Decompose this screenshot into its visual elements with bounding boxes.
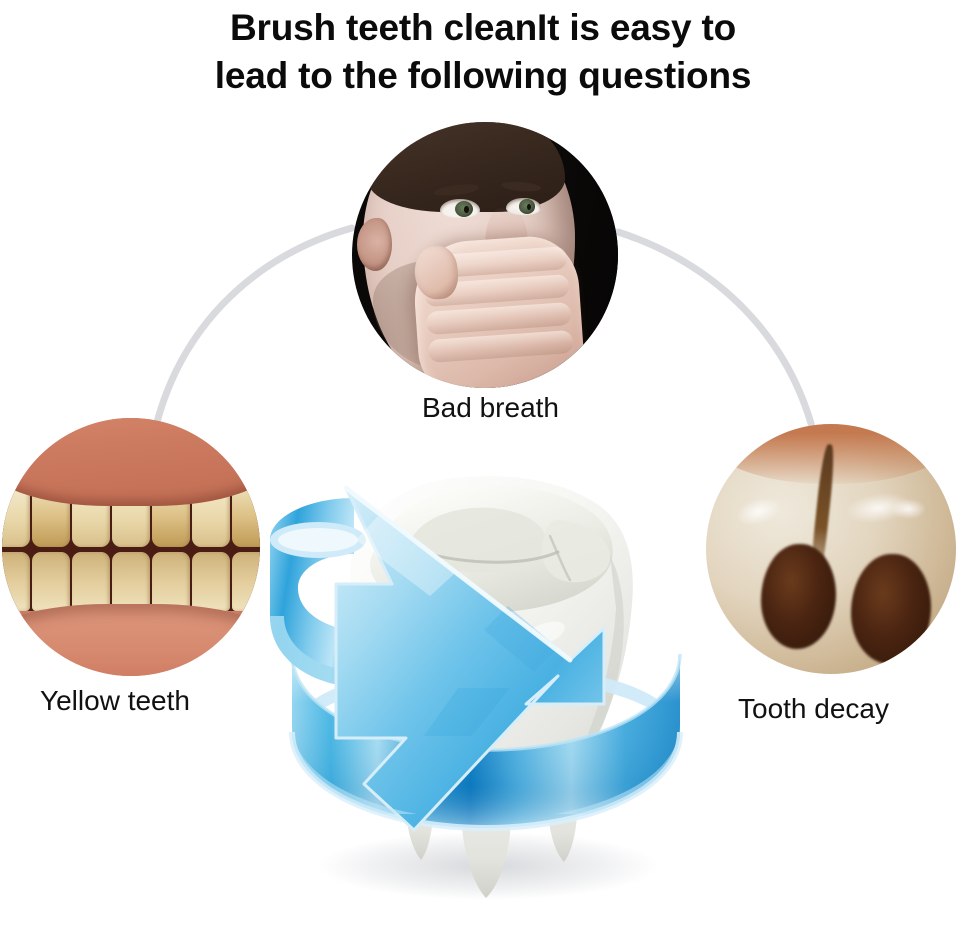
label-yellow-teeth: Yellow teeth [40,685,190,717]
yellow-teeth-lower-row [2,552,260,611]
bad-breath-finger [425,302,571,335]
yellow-tooth [232,488,260,547]
yellow-tooth [32,552,70,611]
bad-breath-finger [427,330,573,363]
bad-breath-hand [411,233,586,388]
yellow-tooth [232,552,260,611]
yellow-teeth-lower-lip [2,604,260,676]
poster-root: Brush teeth cleanIt is easy to lead to t… [0,0,966,947]
page-title-line-2: lead to the following questions [0,52,966,100]
bad-breath-thumb [412,245,458,300]
yellow-tooth [2,552,30,611]
bad-breath-iris-right [519,199,535,214]
bad-breath-pupil-left [464,206,469,213]
photo-circle-tooth-decay [706,424,956,674]
page-title: Brush teeth cleanIt is easy to lead to t… [0,4,966,100]
bad-breath-photo [352,122,618,388]
tooth-with-blue-arrow-graphic [258,436,710,906]
yellow-tooth [192,552,230,611]
yellow-tooth [72,552,110,611]
tooth-decay-photo [706,424,956,674]
tooth-decay-highlight [891,499,926,519]
bad-breath-eye-left [440,199,480,218]
yellow-teeth-photo [2,418,260,676]
label-bad-breath: Bad breath [422,392,559,424]
arc-right-connector [618,232,818,452]
bad-breath-ear [357,218,392,271]
yellow-tooth [2,488,30,547]
yellow-teeth-upper-lip [2,418,260,506]
page-title-line-1: Brush teeth cleanIt is easy to [0,4,966,52]
yellow-tooth [112,552,150,611]
yellow-tooth [152,552,190,611]
photo-circle-yellow-teeth [2,418,260,676]
bad-breath-pupil-right [527,204,531,210]
label-tooth-decay: Tooth decay [738,693,889,725]
yellow-teeth-mouth-cavity [2,488,260,612]
bad-breath-iris-left [455,201,473,217]
photo-circle-bad-breath [352,122,618,388]
